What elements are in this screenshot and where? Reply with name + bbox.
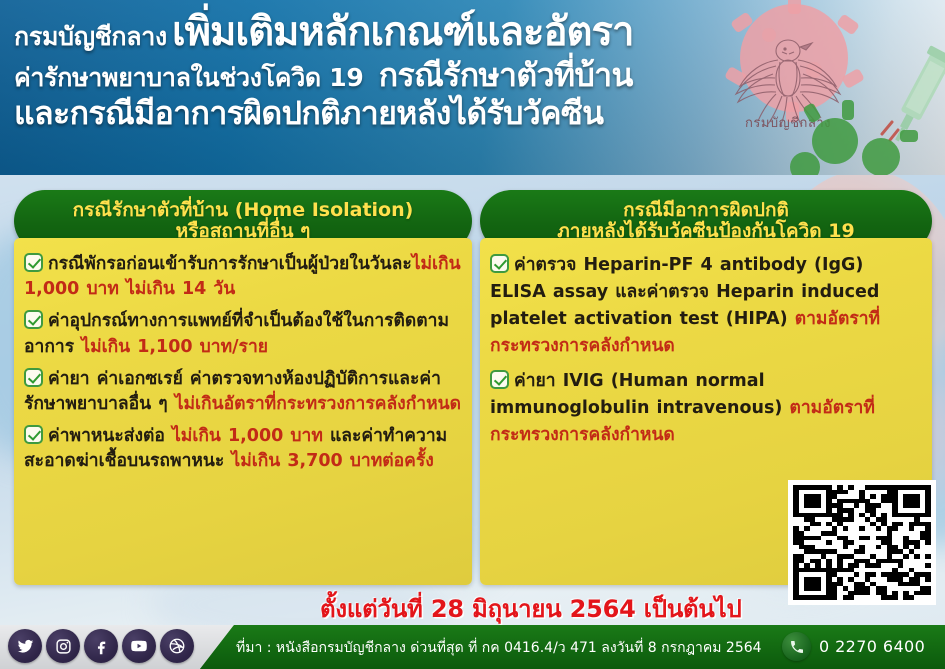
- instagram-icon[interactable]: [46, 629, 80, 663]
- contact-phone[interactable]: 0 2270 6400: [782, 632, 925, 661]
- list-item: กรณีพักรอก่อนเข้ารับการรักษาเป็นผู้ป่วยใ…: [24, 252, 462, 302]
- phone-icon: [782, 632, 811, 661]
- bullet-highlight: ไม่เกิน 1,100 บาท/ราย: [81, 337, 268, 357]
- header-subtitle-small: ค่ารักษาพยาบาลในช่วงโควิด 19: [14, 63, 363, 92]
- footer-bar: ที่มา : หนังสือกรมบัญชีกลาง ด่วนที่สุด ท…: [0, 625, 945, 669]
- check-icon: [490, 370, 509, 389]
- bullet-text: ค่าพาหนะส่งต่อ: [48, 426, 172, 446]
- social-icons: [8, 629, 194, 663]
- header-title-line3: และกรณีมีอาการผิดปกติภายหลังได้รับวัคซีน: [14, 94, 603, 132]
- check-icon: [24, 310, 43, 329]
- bullet-highlight: ไม่เกิน 3,700 บาทต่อครั้ง: [231, 451, 433, 471]
- check-icon: [24, 253, 43, 272]
- bullet-text: ค่ายา IVIG (Human normal immunoglobulin …: [490, 371, 789, 418]
- dribbble-icon[interactable]: [160, 629, 194, 663]
- list-item: ค่ายา IVIG (Human normal immunoglobulin …: [490, 368, 922, 449]
- header-banner: กรมบัญชีกลาง กรมบัญชีกลาง: [0, 0, 945, 175]
- list-item: ค่าตรวจ Heparin-PF 4 antibody (IgG) ELIS…: [490, 252, 922, 361]
- qr-code-matrix: [793, 485, 931, 600]
- facebook-icon[interactable]: [84, 629, 118, 663]
- list-item: ค่าอุปกรณ์ทางการแพทย์ที่จำเป็นต้องใช้ในก…: [24, 309, 462, 359]
- list-item: ค่ายา ค่าเอกซเรย์ ค่าตรวจทางห้องปฏิบัติก…: [24, 367, 462, 417]
- check-icon: [24, 368, 43, 387]
- bullet-text: กรณีพักรอก่อนเข้ารับการรักษาเป็นผู้ป่วยใ…: [48, 254, 412, 274]
- poster-root: กรมบัญชีกลาง กรมบัญชีกลาง: [0, 0, 945, 669]
- panel-card-home-isolation: กรณีพักรอก่อนเข้ารับการรักษาเป็นผู้ป่วยใ…: [14, 238, 472, 585]
- header-subtitle-main: กรณีรักษาตัวที่บ้าน: [379, 56, 633, 94]
- header-org-name: กรมบัญชีกลาง: [14, 22, 167, 51]
- header-title-main: เพิ่มเติมหลักเกณฑ์และอัตรา: [172, 9, 633, 55]
- check-icon: [490, 254, 509, 273]
- twitter-icon[interactable]: [8, 629, 42, 663]
- header-title-block: กรมบัญชีกลาง เพิ่มเติมหลักเกณฑ์และอัตรา …: [14, 8, 714, 130]
- panel-heading-line1: กรณีมีอาการผิดปกติ: [623, 200, 789, 221]
- panel-heading-line1: กรณีรักษาตัวที่บ้าน (Home Isolation): [73, 200, 414, 221]
- phone-number: 0 2270 6400: [819, 637, 925, 656]
- effective-date-text: ตั้งแต่วันที่ 28 มิถุนายน 2564 เป็นต้นไป: [320, 589, 790, 628]
- youtube-icon[interactable]: [122, 629, 156, 663]
- bullet-highlight: ไม่เกิน 1,000 บาท: [172, 426, 330, 446]
- bullet-highlight: ไม่เกินอัตราที่กระทรวงการคลังกำหนด: [175, 394, 461, 414]
- list-item: ค่าพาหนะส่งต่อ ไม่เกิน 1,000 บาท และค่าท…: [24, 424, 462, 474]
- qr-code[interactable]: [788, 480, 936, 605]
- check-icon: [24, 425, 43, 444]
- source-text: ที่มา : หนังสือกรมบัญชีกลาง ด่วนที่สุด ท…: [236, 637, 762, 659]
